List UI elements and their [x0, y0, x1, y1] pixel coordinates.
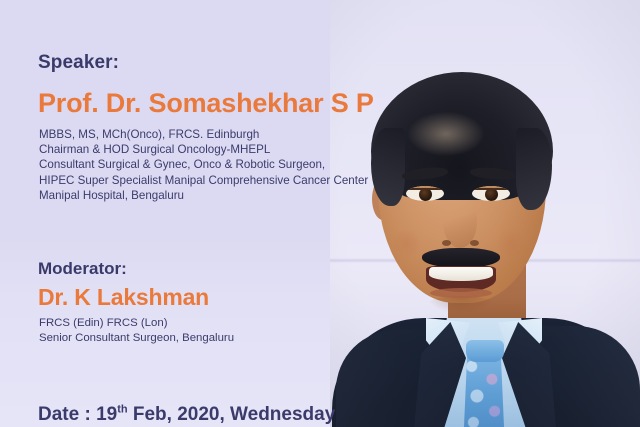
moderator-label: Moderator: — [38, 259, 127, 279]
speaker-name: Prof. Dr. Somashekhar S P — [38, 88, 374, 119]
speaker-credential-line: Manipal Hospital, Bengaluru — [39, 188, 368, 203]
speaker-credentials: MBBS, MS, MCh(Onco), FRCS. Edinburgh Cha… — [39, 127, 368, 203]
moderator-credential-line: Senior Consultant Surgeon, Bengaluru — [39, 331, 234, 346]
speaker-credential-line: Chairman & HOD Surgical Oncology-MHEPL — [39, 142, 368, 157]
speaker-credential-line: Consultant Surgical & Gynec, Onco & Robo… — [39, 157, 368, 172]
moderator-credential-line: FRCS (Edin) FRCS (Lon) — [39, 316, 234, 331]
event-date-ordinal: th — [117, 404, 127, 416]
webinar-speaker-slide: Speaker: Prof. Dr. Somashekhar S P MBBS,… — [0, 0, 640, 427]
text-content: Speaker: Prof. Dr. Somashekhar S P MBBS,… — [0, 0, 640, 427]
speaker-credential-line: MBBS, MS, MCh(Onco), FRCS. Edinburgh — [39, 127, 368, 142]
moderator-name: Dr. K Lakshman — [38, 284, 209, 311]
event-date-prefix: Date : 19 — [38, 404, 117, 425]
speaker-credential-line: HIPEC Super Specialist Manipal Comprehen… — [39, 173, 368, 188]
event-date: Date : 19th Feb, 2020, Wednesday — [38, 404, 335, 426]
event-date-suffix: Feb, 2020, Wednesday — [128, 404, 336, 425]
speaker-label: Speaker: — [38, 52, 119, 74]
moderator-credentials: FRCS (Edin) FRCS (Lon) Senior Consultant… — [39, 316, 234, 346]
